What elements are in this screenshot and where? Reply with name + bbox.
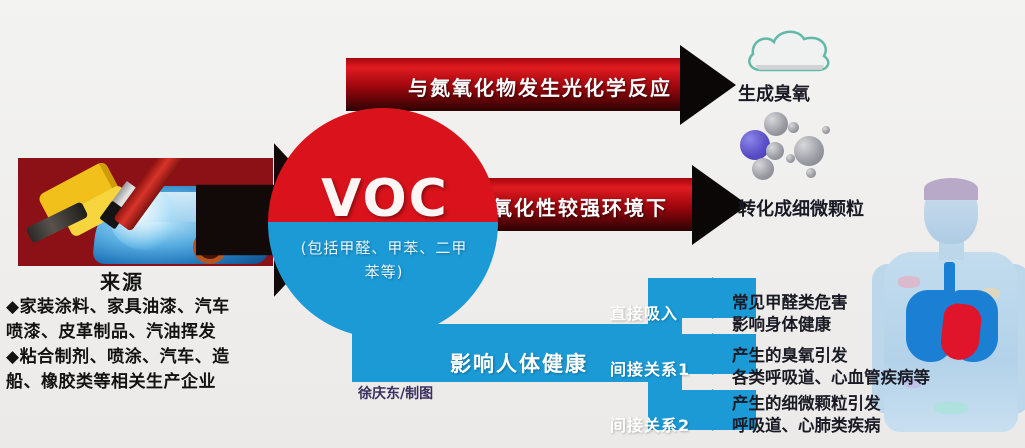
source-line: ◆粘合制剂、喷涂、汽车、造 [6, 345, 238, 370]
torso-fleck [934, 402, 968, 414]
particle [764, 112, 788, 136]
branch-3-label: 间接关系2 [610, 412, 690, 436]
pathway-1-result: 生成臭氧 [738, 80, 810, 106]
credit-line: 徐庆东/制图 [358, 383, 433, 403]
source-line: 船、橡胶类等相关生产企业 [6, 370, 238, 395]
branch-2-label: 间接关系1 [610, 356, 690, 380]
cloud-icon [742, 24, 838, 76]
particle-purple [740, 130, 770, 160]
infographic-canvas: 与氮氧化物发生光化学反应 在氧化性较强环境下 VOC (包括甲醛、甲苯、二甲苯等… [0, 0, 1025, 448]
particle [766, 142, 784, 160]
human-body-diagram [876, 178, 1025, 448]
voc-acronym: VOC [300, 173, 470, 225]
branch-1-result-line2: 影响身体健康 [732, 314, 831, 336]
branch-1-label: 直接吸入 [610, 300, 678, 324]
branch-1-result-line1: 常见甲醛类危害 [732, 292, 848, 314]
branch-3-result-line2: 呼吸道、心肺类疾病 [732, 415, 881, 437]
particle [794, 136, 824, 166]
source-line: ◆家装涂料、家具油漆、汽车 [6, 295, 238, 320]
particle [752, 158, 774, 180]
particle [822, 126, 830, 134]
particle [788, 122, 799, 133]
branch-2-result-line1: 产生的臭氧引发 [732, 345, 848, 367]
source-title: 来源 [6, 266, 238, 295]
branch-3-result-line1: 产生的细微颗粒引发 [732, 393, 881, 415]
voc-subtitle: (包括甲醛、甲苯、二甲苯等) [294, 236, 474, 284]
pathway-2-result: 转化成细微颗粒 [738, 195, 864, 221]
branch-2-result-line2: 各类呼吸道、心血管疾病等 [732, 367, 930, 389]
torso-fleck [898, 276, 920, 288]
particles-icon [736, 108, 848, 180]
health-main-label: 影响人体健康 [450, 348, 588, 378]
hair [924, 178, 978, 200]
particle [806, 168, 816, 178]
pathway-2-label: 在氧化性较强环境下 [470, 192, 668, 221]
pathway-1-arrowhead [680, 45, 736, 125]
source-caption-block: 来源 ◆家装涂料、家具油漆、汽车 喷漆、皮革制品、汽油挥发 ◆粘合制剂、喷涂、汽… [6, 266, 238, 395]
pathway-1-label: 与氮氧化物发生光化学反应 [408, 72, 672, 101]
source-line: 喷漆、皮革制品、汽油挥发 [6, 320, 238, 345]
particle [786, 154, 795, 163]
